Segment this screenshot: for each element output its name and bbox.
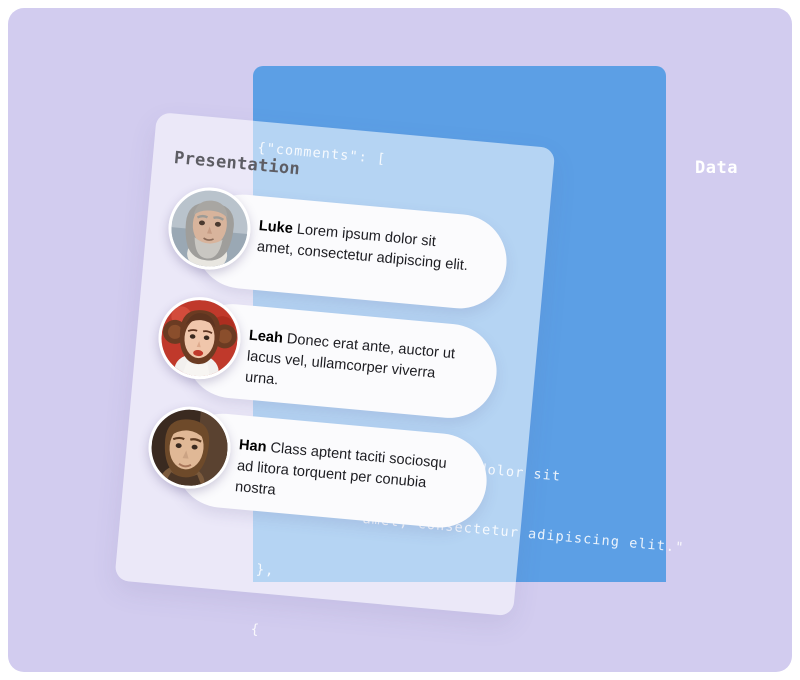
data-layer-label: Data [695,158,738,178]
comment-author: Han [238,437,267,455]
comment-list: Luke Lorem ipsum dolor sit amet, consect… [142,188,550,551]
comment-author: Luke [258,218,293,237]
comment-item[interactable]: Leah Donec erat ante, auctor ut lacus ve… [154,298,541,426]
illustration-stage: {"comments": [ { "id": "1478555312", "av… [0,0,800,680]
comment-item[interactable]: Han Class aptent taciti sociosqu ad lito… [144,407,531,535]
code-line: "id": "1478555313", [208,676,628,680]
comment-author: Leah [248,328,283,347]
